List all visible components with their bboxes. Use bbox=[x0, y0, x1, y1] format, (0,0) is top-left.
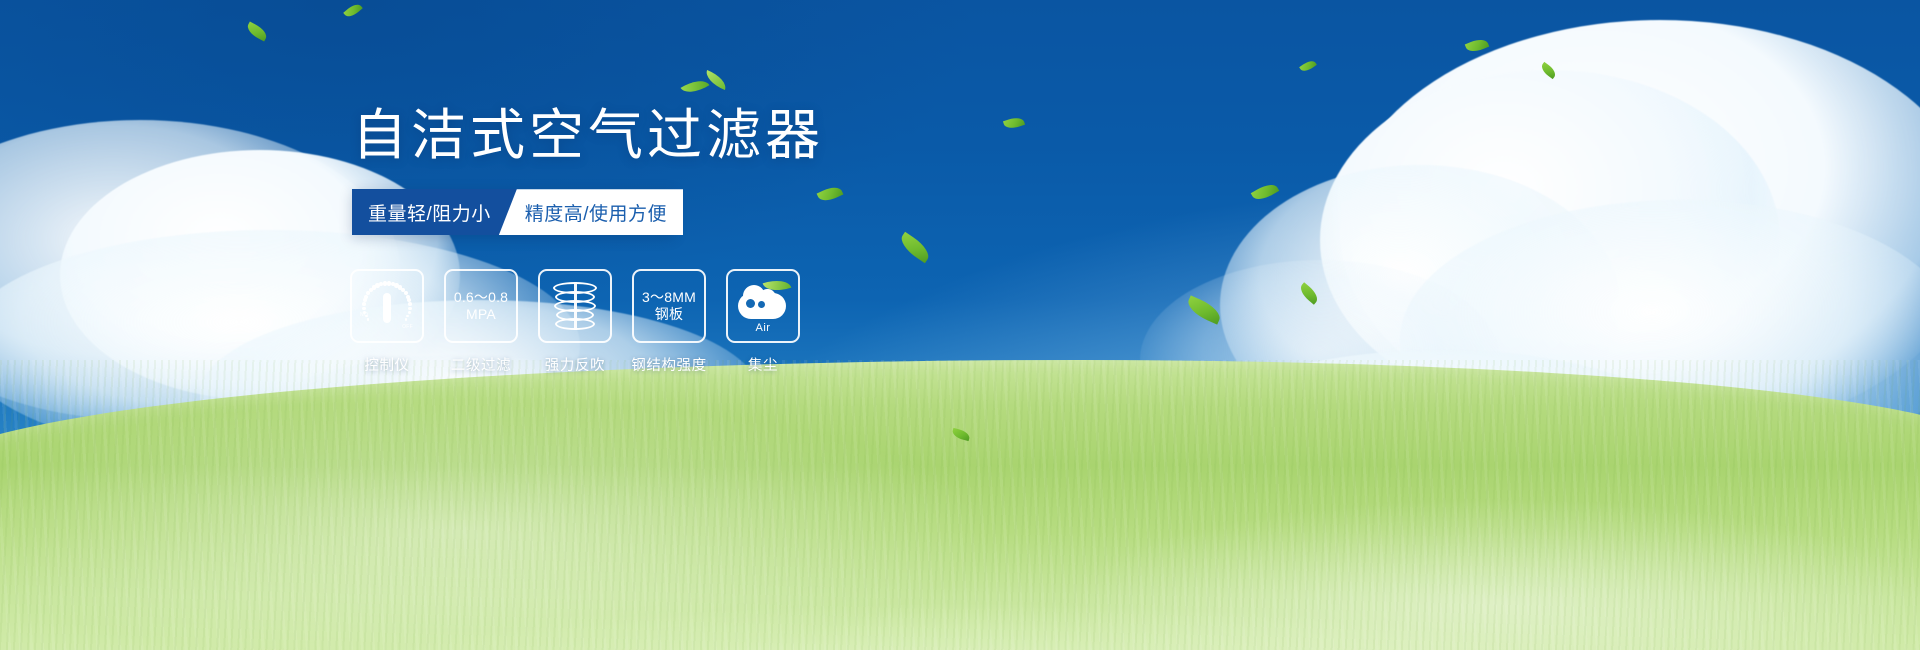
coil-ring bbox=[555, 318, 595, 330]
feature-value: Air bbox=[734, 322, 792, 334]
gauge-dot bbox=[408, 302, 412, 306]
feature-caption: 强力反吹 bbox=[545, 354, 605, 375]
coil-icon bbox=[552, 280, 598, 332]
feature-caption: 集尘 bbox=[748, 354, 778, 375]
feature-caption: 控制仪 bbox=[364, 354, 409, 375]
feature-caption: 钢结构强度 bbox=[631, 354, 707, 375]
gauge-dot bbox=[364, 295, 368, 299]
feature-icon-box: 3～8MM 钢板 bbox=[632, 269, 706, 343]
feature-value: 0.6～0.8 MPA bbox=[454, 289, 508, 323]
product-hero-banner: 自洁式空气过滤器 重量轻/阻力小 精度高/使用方便 NO OFF 控制仪 bbox=[0, 0, 1920, 650]
gauge-dot bbox=[408, 311, 411, 314]
gauge-dot bbox=[362, 307, 365, 310]
gauge-label-off: OFF bbox=[402, 324, 413, 330]
feature-item-strong-blowback[interactable]: 强力反吹 bbox=[540, 269, 610, 375]
feature-icon-box bbox=[538, 269, 612, 343]
gauge-dot bbox=[363, 298, 367, 302]
tab-precision-ease[interactable]: 精度高/使用方便 bbox=[499, 189, 683, 235]
feature-icon-box: NO OFF bbox=[350, 269, 424, 343]
gauge-dot bbox=[362, 302, 366, 306]
dust-cloud-icon: Air bbox=[734, 279, 792, 333]
grass-field bbox=[0, 360, 1920, 650]
feature-icon-box: Air bbox=[726, 269, 800, 343]
feature-tabs: 重量轻/阻力小 精度高/使用方便 bbox=[352, 189, 674, 235]
gauge-icon: NO OFF bbox=[360, 279, 414, 333]
tab-weight-resistance[interactable]: 重量轻/阻力小 bbox=[352, 189, 517, 235]
page-title: 自洁式空气过滤器 bbox=[352, 104, 824, 167]
feature-item-dust-collection[interactable]: Air 集尘 bbox=[728, 269, 798, 375]
feature-list: NO OFF 控制仪 0.6～0.8 MPA 二级过滤 bbox=[352, 269, 1052, 375]
gauge-dot bbox=[408, 307, 411, 310]
gauge-dot bbox=[367, 318, 369, 320]
gauge-needle bbox=[383, 293, 391, 323]
gauge-dot bbox=[405, 318, 407, 320]
page-title-wrap: 自洁式空气过滤器 bbox=[352, 104, 824, 167]
banner-content: 自洁式空气过滤器 重量轻/阻力小 精度高/使用方便 NO OFF 控制仪 bbox=[352, 104, 1052, 375]
feature-item-steel-strength[interactable]: 3～8MM 钢板 钢结构强度 bbox=[634, 269, 704, 375]
feature-item-controller[interactable]: NO OFF 控制仪 bbox=[352, 269, 422, 375]
feature-value: 3～8MM 钢板 bbox=[642, 289, 696, 323]
gauge-label-no: NO bbox=[360, 312, 368, 318]
gauge-dot bbox=[406, 315, 409, 318]
feature-caption: 二级过滤 bbox=[451, 354, 511, 375]
feature-icon-box: 0.6～0.8 MPA bbox=[444, 269, 518, 343]
feature-item-two-stage-filter[interactable]: 0.6～0.8 MPA 二级过滤 bbox=[446, 269, 516, 375]
